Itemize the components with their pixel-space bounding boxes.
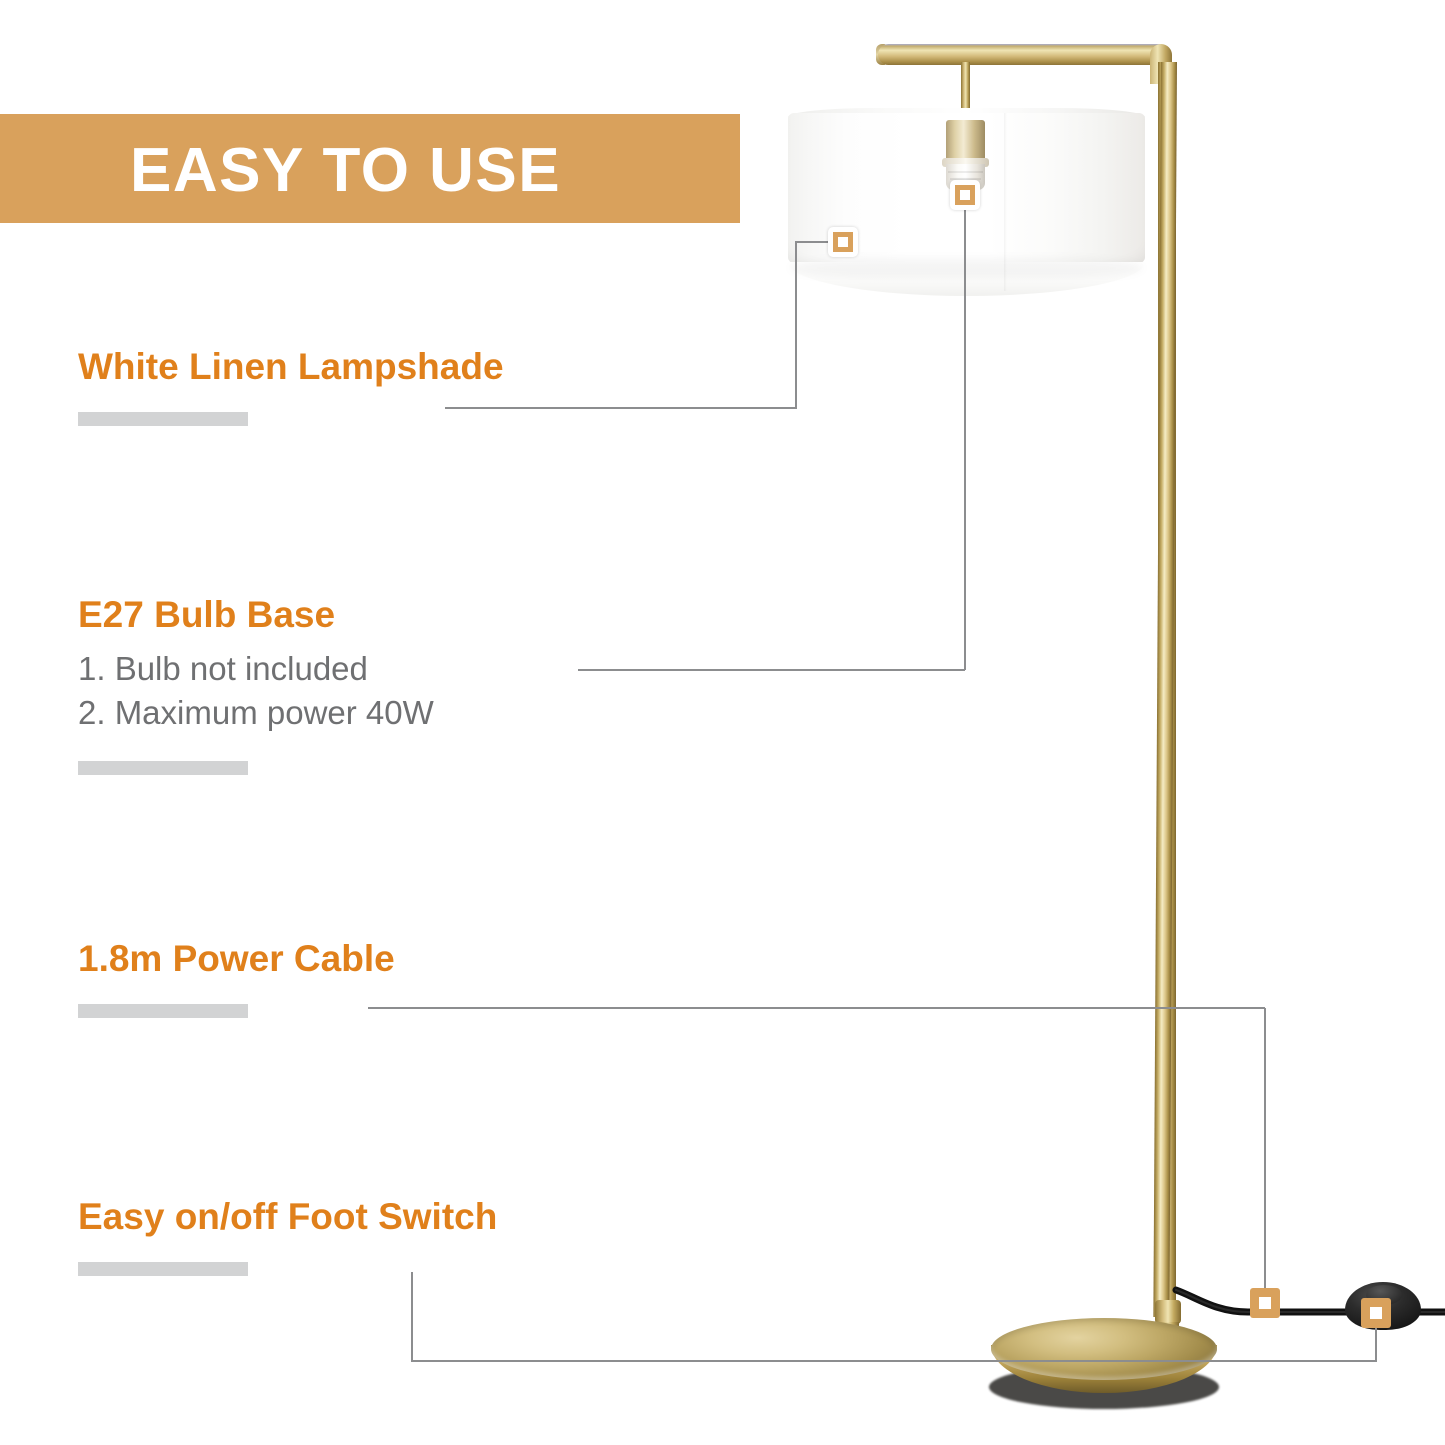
feature-power-cable: 1.8m Power Cable: [78, 938, 395, 979]
feature-bulb-base: E27 Bulb Base 1. Bulb not included 2. Ma…: [78, 594, 434, 735]
feature-foot-switch-underline: [78, 1262, 248, 1276]
feature-power-cable-underline: [78, 1004, 248, 1018]
feature-foot-switch-title: Easy on/off Foot Switch: [78, 1196, 497, 1237]
marker-power-cable[interactable]: [1250, 1288, 1280, 1318]
lamp-base-rim: [991, 1318, 1217, 1380]
feature-lampshade-title: White Linen Lampshade: [78, 346, 504, 387]
feature-power-cable-title: 1.8m Power Cable: [78, 938, 395, 979]
page-title: EASY TO USE: [130, 128, 730, 214]
lamp-pole-collar: [1155, 1300, 1181, 1324]
infographic-canvas: EASY TO USE: [0, 0, 1445, 1445]
feature-bulb-base-title: E27 Bulb Base: [78, 594, 434, 635]
lamp-horizontal-arm: [878, 44, 1170, 65]
feature-bulb-base-subline-2: 2. Maximum power 40W: [78, 691, 434, 735]
feature-bulb-base-subline-1: 1. Bulb not included: [78, 647, 434, 691]
lampshade-inner-shadow: [790, 258, 1143, 278]
bulb-socket-metal: [946, 120, 985, 162]
marker-bulb-socket[interactable]: [950, 180, 980, 210]
marker-lampshade[interactable]: [828, 227, 858, 257]
marker-foot-switch[interactable]: [1361, 1298, 1391, 1328]
feature-lampshade-underline: [78, 412, 248, 426]
feature-foot-switch: Easy on/off Foot Switch: [78, 1196, 497, 1237]
feature-bulb-base-underline: [78, 761, 248, 775]
feature-lampshade: White Linen Lampshade: [78, 346, 504, 387]
